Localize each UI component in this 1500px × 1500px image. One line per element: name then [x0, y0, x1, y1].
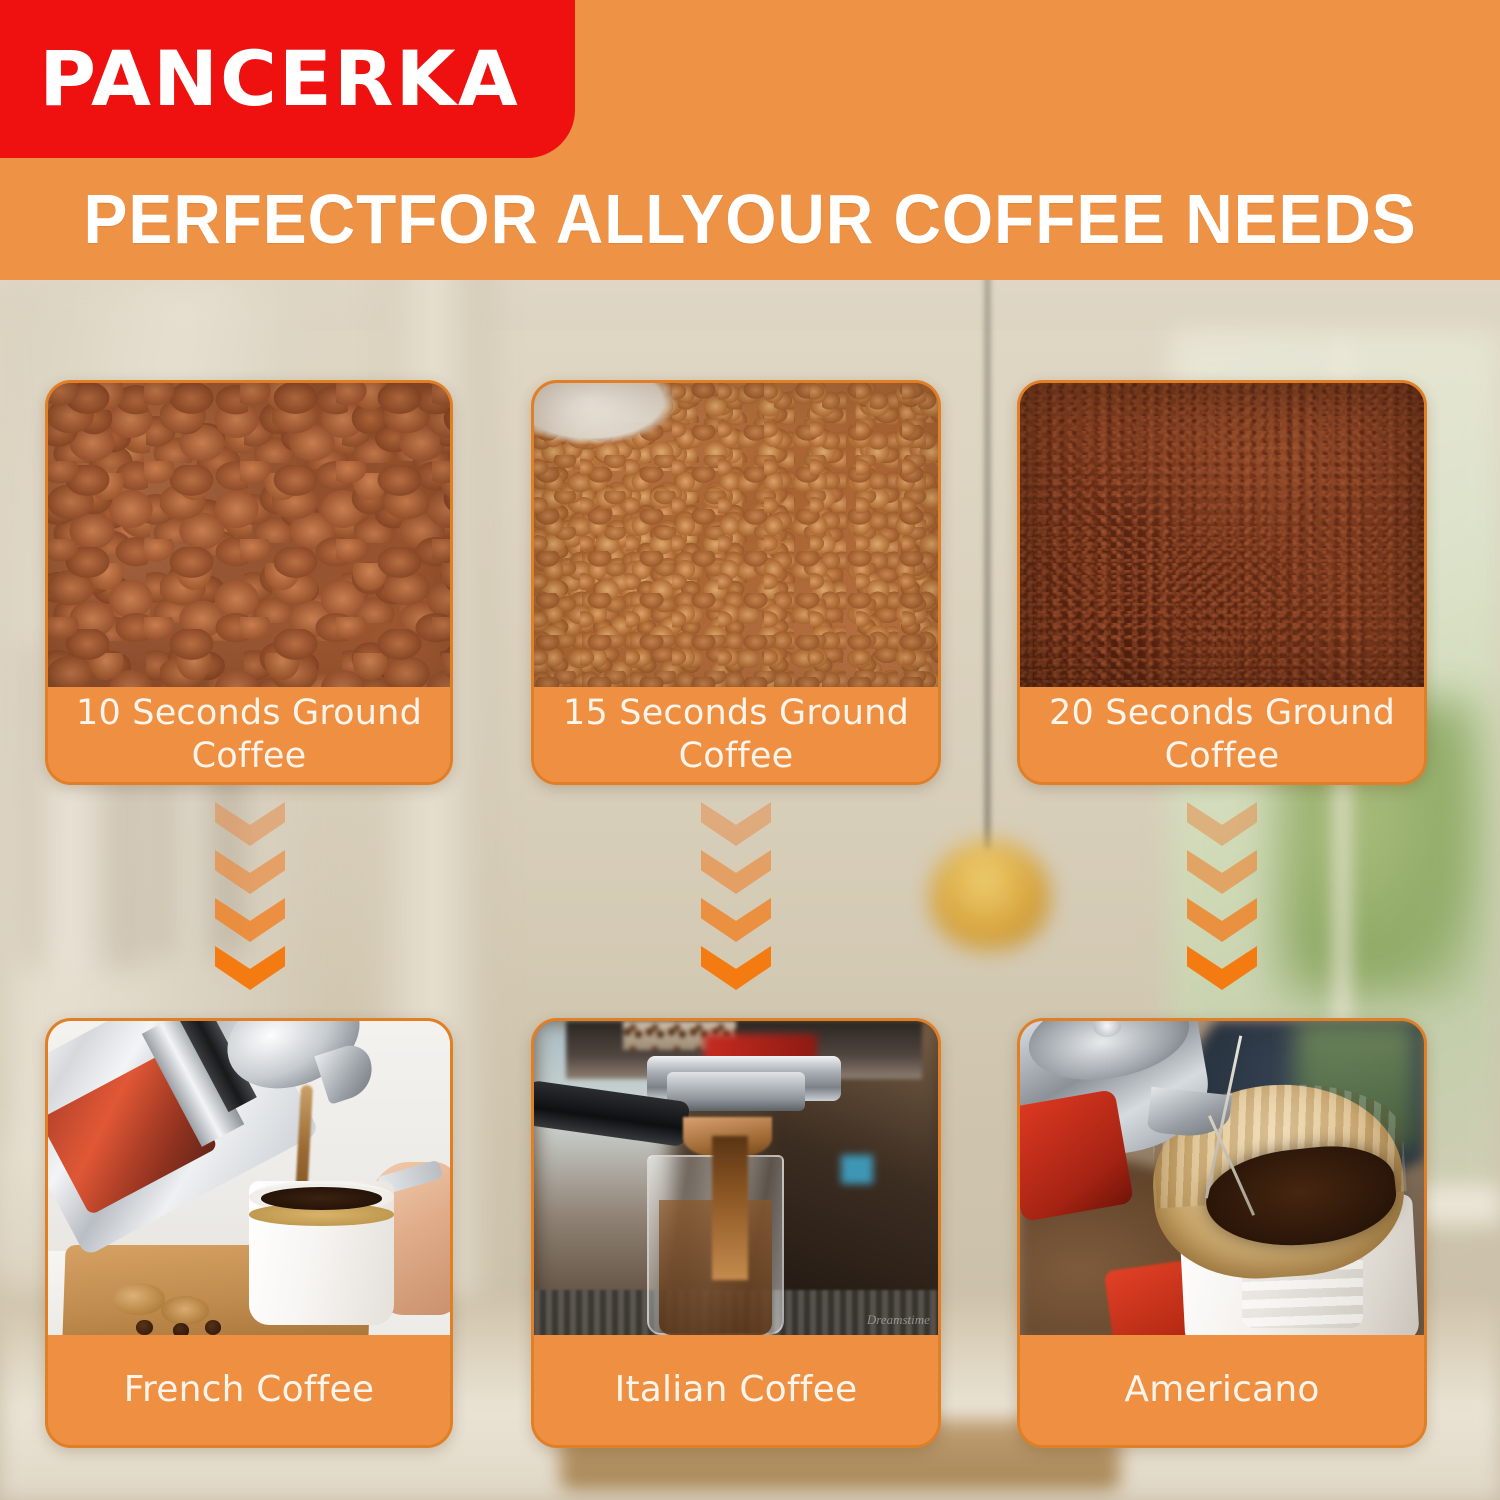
- chevron-down-icon: [215, 850, 285, 894]
- brew-card-italian[interactable]: Dreamstime Italian Coffee: [531, 1018, 941, 1448]
- chevron-down-icon: [1187, 898, 1257, 942]
- flow-arrows-left: [215, 802, 285, 994]
- chevron-down-icon: [1187, 850, 1257, 894]
- grind-caption-15s: 15 Seconds Ground Coffee: [534, 687, 938, 782]
- scene-coffee-bean: [136, 1320, 152, 1334]
- scene-watermark: Dreamstime: [867, 1312, 930, 1328]
- scene-cookie: [112, 1283, 164, 1315]
- grind-photo-medium: [534, 383, 938, 693]
- brew-caption-italian: Italian Coffee: [534, 1335, 938, 1445]
- scene-blue-highlight: [841, 1155, 873, 1184]
- brew-photo-pour-over: [1020, 1021, 1424, 1341]
- flow-arrows-right: [1187, 802, 1257, 994]
- grind-photo-fine: [1020, 383, 1424, 693]
- brew-photo-french-press: [48, 1021, 450, 1341]
- chevron-down-icon: [215, 802, 285, 846]
- comparison-grid: 10 Seconds Ground Coffee 15 Seconds Grou…: [0, 0, 1500, 1500]
- grind-caption-10s: 10 Seconds Ground Coffee: [48, 687, 450, 782]
- grind-card-10s[interactable]: 10 Seconds Ground Coffee: [45, 380, 453, 785]
- scene-kettle-red-panel: [1020, 1089, 1134, 1222]
- scene-group-head-lower: [667, 1072, 804, 1110]
- scene-cookie: [161, 1296, 209, 1325]
- grind-card-20s[interactable]: 20 Seconds Ground Coffee: [1017, 380, 1427, 785]
- brew-caption-americano: Americano: [1020, 1335, 1424, 1445]
- scene-coffee-bean: [205, 1320, 221, 1334]
- grind-photo-coarse: [48, 383, 450, 693]
- scene-cup-liquid: [261, 1187, 382, 1209]
- chevron-down-icon: [701, 802, 771, 846]
- chevron-down-icon: [701, 850, 771, 894]
- chevron-down-icon: [701, 946, 771, 990]
- brew-card-french[interactable]: French Coffee: [45, 1018, 453, 1448]
- chevron-down-icon: [215, 898, 285, 942]
- scene-espresso-stream: [712, 1136, 748, 1280]
- brew-photo-espresso-machine: Dreamstime: [534, 1021, 938, 1341]
- grind-card-15s[interactable]: 15 Seconds Ground Coffee: [531, 380, 941, 785]
- chevron-down-icon: [1187, 802, 1257, 846]
- chevron-down-icon: [1187, 946, 1257, 990]
- chevron-down-icon: [701, 898, 771, 942]
- chevron-down-icon: [215, 946, 285, 990]
- brew-card-americano[interactable]: Americano: [1017, 1018, 1427, 1448]
- brew-caption-french: French Coffee: [48, 1335, 450, 1445]
- flow-arrows-center: [701, 802, 771, 994]
- grind-caption-20s: 20 Seconds Ground Coffee: [1020, 687, 1424, 782]
